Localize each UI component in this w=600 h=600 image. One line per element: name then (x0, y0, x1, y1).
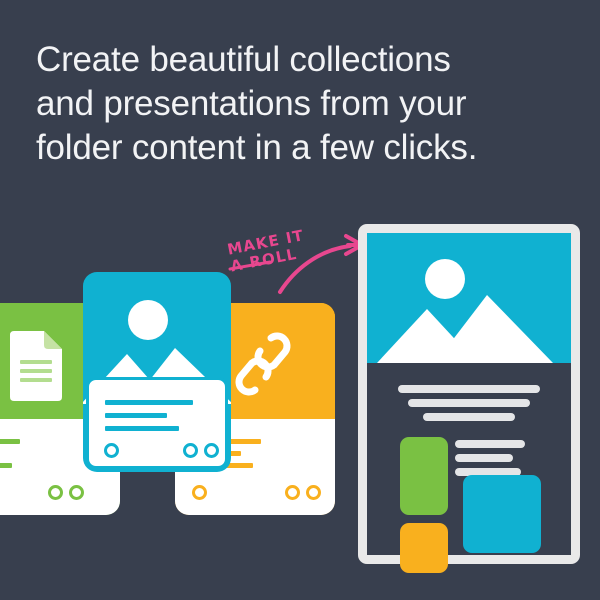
presentation-text-bar (455, 440, 525, 448)
card-dot (306, 485, 321, 500)
card-dot (104, 443, 119, 458)
card-dot (48, 485, 63, 500)
card-dot (285, 485, 300, 500)
card-text-bar (105, 413, 167, 418)
photo-card[interactable] (83, 272, 231, 472)
card-text-bar (0, 463, 12, 468)
link-icon (227, 328, 299, 400)
card-text-bar (105, 426, 179, 431)
card-dot (69, 485, 84, 500)
presentation-title-bar (408, 399, 530, 407)
handwritten-annotation: MAKE IT A ROLL (224, 238, 364, 298)
presentation-title-bar (398, 385, 540, 393)
card-text-bar (105, 400, 193, 405)
card-dot (192, 485, 207, 500)
card-dot (204, 443, 219, 458)
presentation-preview[interactable] (358, 224, 580, 564)
photo-card-body (86, 377, 228, 469)
orange-block (400, 523, 448, 573)
presentation-body (367, 367, 571, 555)
blue-block (463, 475, 541, 553)
presentation-text-bar (455, 454, 513, 462)
image-placeholder-icon (367, 233, 571, 363)
green-block (400, 437, 448, 515)
presentation-hero-image (367, 233, 571, 363)
document-icon (10, 331, 62, 401)
card-text-bar (0, 439, 20, 444)
presentation-title-bar (423, 413, 515, 421)
presentation-canvas (367, 233, 571, 555)
annotation-underline (228, 260, 274, 274)
promo-graphic: Create beautiful collections and present… (0, 0, 600, 600)
card-dot (183, 443, 198, 458)
page-title: Create beautiful collections and present… (36, 38, 556, 170)
